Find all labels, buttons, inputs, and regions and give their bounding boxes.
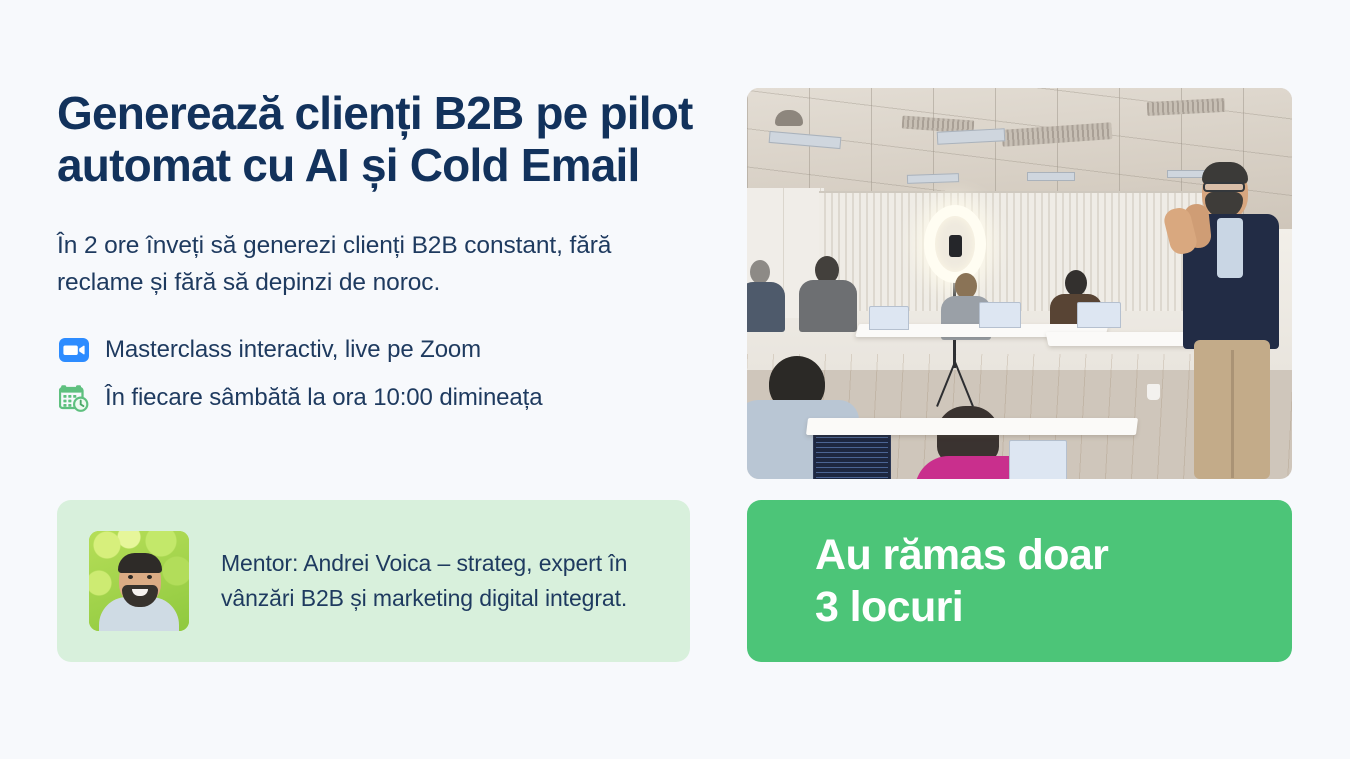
calendar-clock-icon <box>57 381 91 415</box>
list-item-label: În fiecare sâmbătă la ora 10:00 dimineaț… <box>105 383 543 413</box>
mentor-card: Mentor: Andrei Voica – strateg, expert î… <box>57 500 690 662</box>
mentor-description: Mentor: Andrei Voica – strateg, expert î… <box>221 546 690 616</box>
subtitle-text: În 2 ore înveți să generezi clienți B2B … <box>57 228 687 302</box>
list-item: În fiecare sâmbătă la ora 10:00 dimineaț… <box>57 381 697 415</box>
list-item: Masterclass interactiv, live pe Zoom <box>57 333 697 367</box>
left-content-column: Generează clienți B2B pe pilot automat c… <box>57 88 697 429</box>
cta-line-1: Au rămas doar <box>815 529 1292 581</box>
list-item-label: Masterclass interactiv, live pe Zoom <box>105 335 481 365</box>
zoom-video-icon <box>57 333 91 367</box>
promo-slide: Generează clienți B2B pe pilot automat c… <box>0 0 1350 759</box>
status-badge: Au rămas doar 3 locuri <box>747 500 1292 662</box>
avatar <box>89 531 189 631</box>
classroom-photo <box>747 88 1292 479</box>
page-title: Generează clienți B2B pe pilot automat c… <box>57 88 697 192</box>
feature-list: Masterclass interactiv, live pe Zoom <box>57 333 697 415</box>
cta-line-2: 3 locuri <box>815 581 1292 633</box>
